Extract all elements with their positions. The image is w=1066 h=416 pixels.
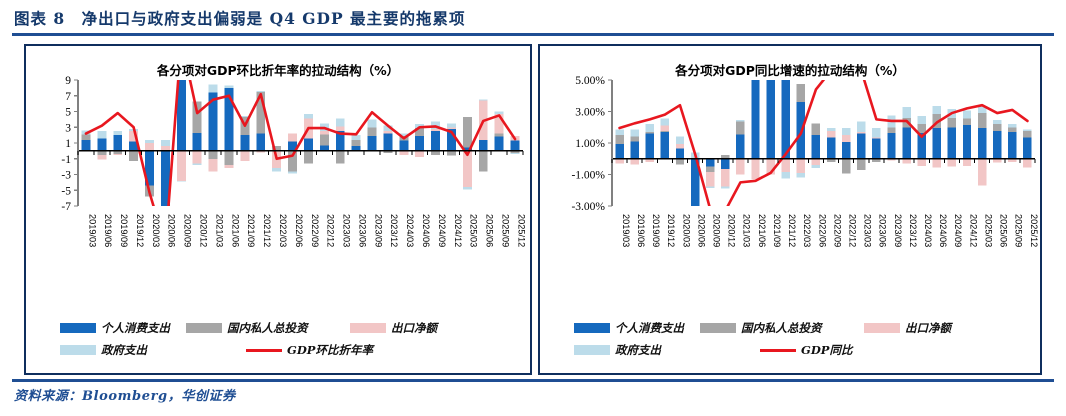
svg-text:-1: -1	[61, 154, 71, 166]
svg-text:2022/03: 2022/03	[802, 214, 812, 247]
legend-item-private-investment[interactable]: 国内私人总投资	[186, 320, 336, 336]
svg-text:2024/09: 2024/09	[437, 214, 447, 247]
svg-text:2024/12: 2024/12	[968, 214, 978, 247]
legend-item-personal-consumption[interactable]: 个人消费支出	[60, 320, 172, 336]
svg-text:2024/03: 2024/03	[923, 214, 933, 247]
svg-text:2025/12: 2025/12	[1029, 214, 1039, 247]
svg-text:2022/06: 2022/06	[294, 214, 304, 247]
svg-text:2021/12: 2021/12	[787, 214, 797, 247]
svg-text:2023/12: 2023/12	[908, 214, 918, 247]
legend-swatch-government	[60, 345, 96, 355]
chart-plot-qoq: 97531-1-3-5-72019/032019/062019/092019/1…	[26, 46, 530, 296]
legend-item-government[interactable]: 政府支出	[574, 342, 686, 358]
svg-text:2025/09: 2025/09	[1014, 214, 1024, 247]
source-note: 资料来源：Bloomberg，华创证券	[14, 385, 236, 404]
svg-text:2020/09: 2020/09	[183, 214, 193, 247]
svg-text:2021/09: 2021/09	[772, 214, 782, 247]
svg-text:9: 9	[65, 75, 71, 87]
legend-label-personal-consumption: 个人消费支出	[101, 320, 170, 336]
svg-text:5.00%: 5.00%	[575, 75, 605, 87]
svg-text:2023/12: 2023/12	[389, 214, 399, 247]
svg-text:3: 3	[65, 122, 71, 134]
svg-text:2024/03: 2024/03	[405, 214, 415, 247]
legend-swatch-personal-consumption	[60, 323, 96, 333]
svg-text:2021/12: 2021/12	[262, 214, 272, 247]
svg-text:2025/06: 2025/06	[485, 214, 495, 247]
svg-text:2020/12: 2020/12	[199, 214, 209, 247]
title-divider	[12, 33, 1054, 36]
svg-text:7: 7	[65, 91, 71, 103]
svg-text:2023/09: 2023/09	[373, 214, 383, 247]
svg-text:2025/09: 2025/09	[500, 214, 510, 247]
svg-text:2022/09: 2022/09	[832, 214, 842, 247]
legend-item-gdp-line[interactable]: GDP环比折年率	[246, 342, 373, 358]
svg-text:2019/12: 2019/12	[135, 214, 145, 247]
legend-label-net-exports: 出口净额	[391, 320, 437, 336]
svg-text:2020/06: 2020/06	[696, 214, 706, 247]
chart-plot-yoy: 5.00%3.00%1.00%-1.00%-3.00%2019/032019/0…	[540, 46, 1040, 296]
legend-swatch-net-exports	[350, 323, 386, 333]
legend-item-private-investment[interactable]: 国内私人总投资	[700, 320, 850, 336]
svg-text:2025/12: 2025/12	[516, 214, 526, 247]
svg-text:2020/12: 2020/12	[727, 214, 737, 247]
svg-text:1.00%: 1.00%	[575, 138, 605, 150]
legend-row-2: 政府支出 GDP同比	[540, 339, 1040, 361]
legend-swatch-net-exports	[864, 323, 900, 333]
legend-label-private-investment: 国内私人总投资	[227, 320, 308, 336]
page-title: 图表 8 净出口与政府支出偏弱是 Q4 GDP 最主要的拖累项	[14, 7, 466, 29]
svg-text:2022/12: 2022/12	[847, 214, 857, 247]
svg-text:2020/06: 2020/06	[167, 214, 177, 247]
svg-text:2019/03: 2019/03	[621, 214, 631, 247]
chart-panel-yoy: 各分项对GDP同比增速的拉动结构（%） 5.00%3.00%1.00%-1.00…	[538, 44, 1042, 375]
svg-text:2023/09: 2023/09	[893, 214, 903, 247]
svg-text:-5: -5	[61, 185, 71, 197]
svg-text:2023/03: 2023/03	[342, 214, 352, 247]
chart-legend-qoq: 个人消费支出 国内私人总投资 出口净额 政府支出	[26, 317, 530, 361]
svg-text:-1.00%: -1.00%	[571, 170, 605, 182]
svg-text:2022/06: 2022/06	[817, 214, 827, 247]
svg-text:2019/06: 2019/06	[636, 214, 646, 247]
svg-text:2019/09: 2019/09	[119, 214, 129, 247]
svg-text:2020/03: 2020/03	[681, 214, 691, 247]
legend-label-government: 政府支出	[615, 342, 661, 358]
legend-row-1: 个人消费支出 国内私人总投资 出口净额	[26, 317, 530, 339]
svg-text:2022/09: 2022/09	[310, 214, 320, 247]
svg-text:2024/06: 2024/06	[421, 214, 431, 247]
svg-text:2024/12: 2024/12	[453, 214, 463, 247]
svg-text:2020/09: 2020/09	[712, 214, 722, 247]
svg-text:2023/06: 2023/06	[878, 214, 888, 247]
legend-item-net-exports[interactable]: 出口净额	[864, 320, 974, 336]
svg-text:1: 1	[65, 138, 71, 150]
figure-header: 图表 8 净出口与政府支出偏弱是 Q4 GDP 最主要的拖累项	[14, 4, 1052, 32]
svg-text:2019/09: 2019/09	[651, 214, 661, 247]
svg-text:5: 5	[65, 107, 71, 119]
footer-divider	[12, 379, 1054, 382]
chart-panel-qoq: 各分项对GDP环比折年率的拉动结构（%） 97531-1-3-5-72019/0…	[24, 44, 532, 375]
svg-text:-3: -3	[61, 170, 71, 182]
legend-label-personal-consumption: 个人消费支出	[615, 320, 684, 336]
legend-item-personal-consumption[interactable]: 个人消费支出	[574, 320, 686, 336]
legend-row-2: 政府支出 GDP环比折年率	[26, 339, 530, 361]
svg-text:2021/03: 2021/03	[742, 214, 752, 247]
svg-text:-7: -7	[61, 201, 71, 213]
svg-text:2019/06: 2019/06	[103, 214, 113, 247]
svg-text:2021/06: 2021/06	[230, 214, 240, 247]
svg-text:2023/03: 2023/03	[863, 214, 873, 247]
svg-text:2024/09: 2024/09	[953, 214, 963, 247]
svg-text:2021/06: 2021/06	[757, 214, 767, 247]
svg-text:2022/12: 2022/12	[326, 214, 336, 247]
legend-swatch-government	[574, 345, 610, 355]
legend-item-net-exports[interactable]: 出口净额	[350, 320, 460, 336]
svg-text:2024/06: 2024/06	[938, 214, 948, 247]
legend-row-1: 个人消费支出 国内私人总投资 出口净额	[540, 317, 1040, 339]
svg-text:2025/03: 2025/03	[983, 214, 993, 247]
legend-label-private-investment: 国内私人总投资	[741, 320, 822, 336]
svg-text:2021/09: 2021/09	[246, 214, 256, 247]
legend-swatch-personal-consumption	[574, 323, 610, 333]
svg-text:-3.00%: -3.00%	[571, 201, 605, 213]
svg-text:2025/03: 2025/03	[469, 214, 479, 247]
chart-legend-yoy: 个人消费支出 国内私人总投资 出口净额 政府支出	[540, 317, 1040, 361]
legend-swatch-private-investment	[186, 323, 222, 333]
svg-text:2022/03: 2022/03	[278, 214, 288, 247]
figure-page: 图表 8 净出口与政府支出偏弱是 Q4 GDP 最主要的拖累项 各分项对GDP环…	[0, 0, 1066, 416]
legend-item-government[interactable]: 政府支出	[60, 342, 172, 358]
legend-swatch-private-investment	[700, 323, 736, 333]
legend-label-gdp-line: GDP同比	[801, 342, 852, 358]
svg-text:2023/06: 2023/06	[357, 214, 367, 247]
legend-item-gdp-line[interactable]: GDP同比	[760, 342, 852, 358]
legend-line-gdp	[246, 345, 282, 355]
legend-line-gdp	[760, 345, 796, 355]
svg-text:2025/06: 2025/06	[999, 214, 1009, 247]
svg-text:2019/12: 2019/12	[666, 214, 676, 247]
svg-text:2019/03: 2019/03	[87, 214, 97, 247]
legend-label-government: 政府支出	[101, 342, 147, 358]
svg-text:3.00%: 3.00%	[575, 107, 605, 119]
legend-label-gdp-line: GDP环比折年率	[287, 342, 373, 358]
svg-text:2020/03: 2020/03	[151, 214, 161, 247]
svg-text:2021/03: 2021/03	[214, 214, 224, 247]
legend-label-net-exports: 出口净额	[905, 320, 951, 336]
